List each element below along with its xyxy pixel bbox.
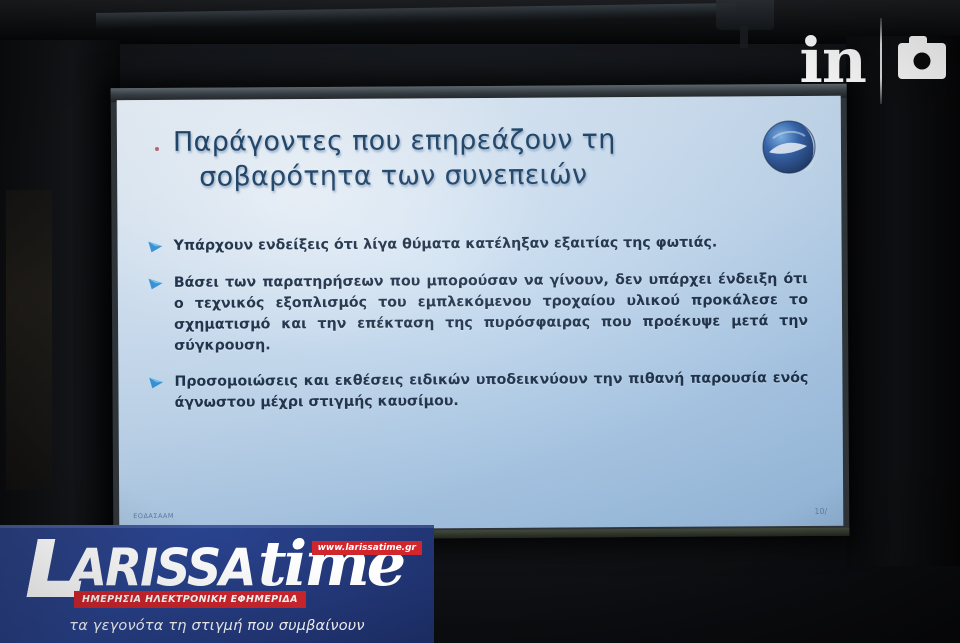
projection-screen: Παράγοντες που επηρεάζουν τη σοβαρότητα …	[111, 84, 850, 540]
chevron-right-bullet-icon	[148, 273, 174, 295]
slide-title: Παράγοντες που επηρεάζουν τη σοβαρότητα …	[173, 122, 733, 195]
list-item-text: Υπάρχουν ενδείξεις ότι λίγα θύματα κατέλ…	[174, 232, 808, 257]
slide-title-line-1: Παράγοντες που επηρεάζουν τη	[173, 124, 616, 158]
chevron-right-bullet-icon	[148, 236, 174, 258]
logo-website-url: www.larissatime.gr	[312, 541, 422, 555]
screenshot-root: Παράγοντες που επηρεάζουν τη σοβαρότητα …	[0, 0, 960, 643]
list-item: Βάσει των παρατηρήσεων που μπορούσαν να …	[148, 269, 809, 357]
list-item: Προσομοιώσεις και εκθέσεις ειδικών υποδε…	[148, 368, 808, 414]
logo-badge: ΗΜΕΡΗΣΙΑ ΗΛΕΚΤΡΟΝΙΚΗ ΕΦΗΜΕΡΙΔΑ	[74, 591, 306, 608]
list-item-text: Προσομοιώσεις και εκθέσεις ειδικών υποδε…	[174, 368, 808, 414]
slide-footer-organization: ΕΟΔΑΣΑΑΜ	[133, 512, 174, 520]
projector-arm	[740, 26, 748, 48]
watermark-divider	[880, 18, 882, 104]
slide-page-number: 10/	[814, 507, 827, 516]
logo-wordmark-row: ARISSA time www.larissatime.gr ΗΜΕΡΗΣΙΑ …	[0, 525, 434, 603]
slide-bullet-list: Υπάρχουν ενδείξεις ότι λίγα θύματα κατέλ…	[148, 232, 809, 429]
globe-icon	[759, 116, 823, 180]
camera-icon	[898, 43, 946, 79]
wall-right	[846, 36, 960, 566]
watermark-brand-text: in	[799, 34, 880, 87]
title-bullet-dot-icon	[155, 147, 159, 151]
list-item: Υπάρχουν ενδείξεις ότι λίγα θύματα κατέλ…	[148, 232, 808, 258]
wall-left	[0, 40, 120, 560]
logo-brand-name: ARISSA	[70, 538, 255, 598]
camera-lens-icon	[914, 53, 931, 70]
slide-title-line-2: σοβαρότητα των συνεπειών	[199, 157, 733, 195]
larissatime-logo: ARISSA time www.larissatime.gr ΗΜΕΡΗΣΙΑ …	[0, 525, 434, 643]
list-item-text: Βάσει των παρατηρήσεων που μπορούσαν να …	[174, 269, 809, 357]
logo-tagline: τα γεγονότα τη στιγμή που συμβαίνουν	[0, 618, 434, 634]
chevron-right-bullet-icon	[148, 372, 174, 394]
watermark-in-logo: in	[799, 18, 946, 104]
wall-left-panel	[6, 190, 52, 490]
presentation-slide: Παράγοντες που επηρεάζουν τη σοβαρότητα …	[117, 96, 844, 530]
